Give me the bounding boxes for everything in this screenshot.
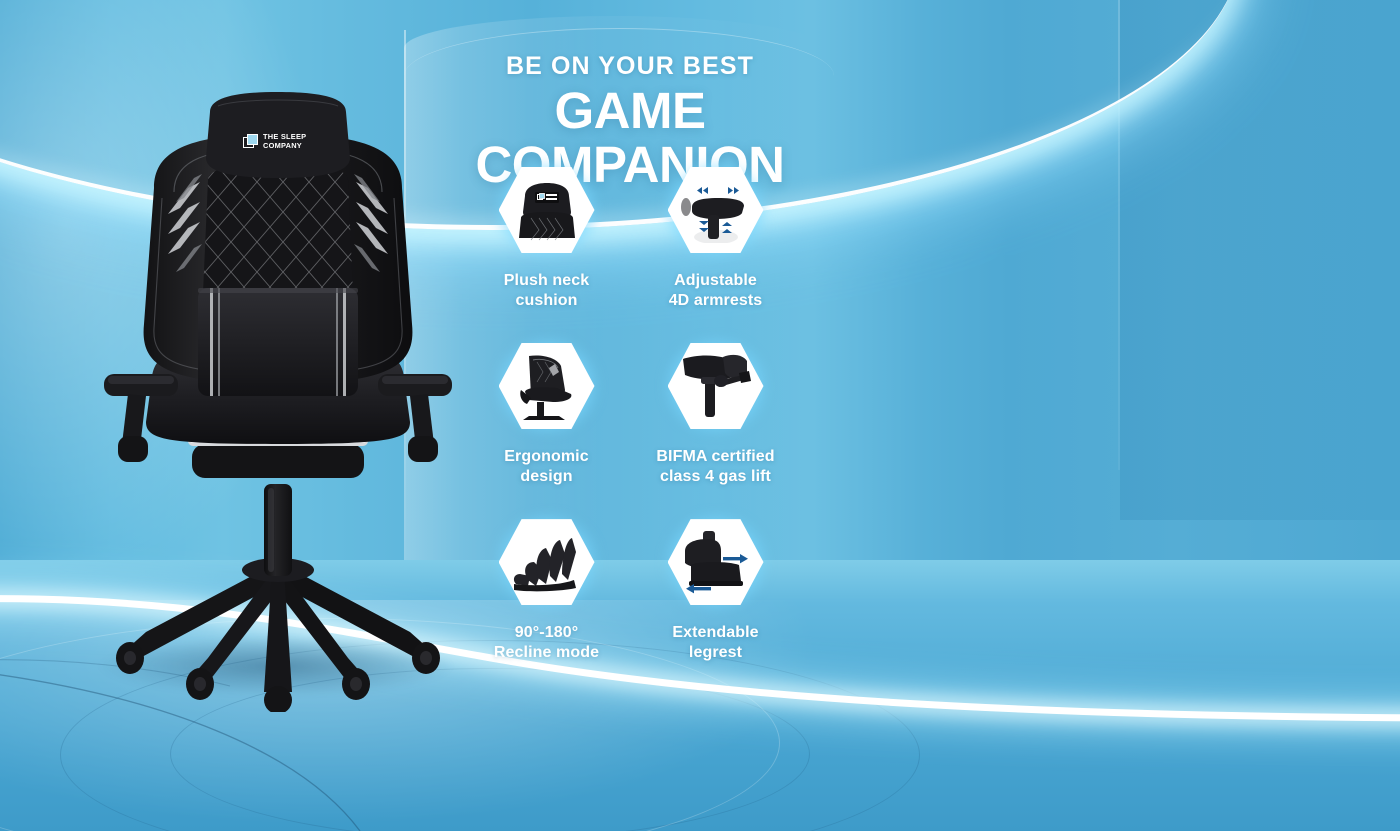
feature-badge [491,158,603,262]
feature-label: Plush neckcushion [504,271,589,310]
feature-badge [491,510,603,614]
feature-badge [491,334,603,438]
feature-label: Ergonomicdesign [504,447,588,486]
promo-banner: THE SLEEPCOMPANY BE ON YOUR BEST GAME CO… [0,0,1400,831]
feature-label: 90°-180°Recline mode [494,623,599,662]
overlapping-squares-logo-icon [243,134,258,149]
feature-extendable-legrest[interactable]: Extendablelegrest [635,510,796,662]
chair-base [116,558,440,712]
feature-plush-neck-cushion[interactable]: Plush neckcushion [466,158,627,310]
feature-grid: Plush neckcushion [466,158,796,662]
feature-adjustable-4d-armrests[interactable]: Adjustable4D armrests [635,158,796,310]
feature-label: Adjustable4D armrests [669,271,763,310]
brand-name: THE SLEEPCOMPANY [263,133,306,150]
headrest-brand-logo: THE SLEEPCOMPANY [243,133,306,150]
feature-label: BIFMA certifiedclass 4 gas lift [656,447,774,486]
feature-label: Extendablelegrest [672,623,758,662]
feature-badge [660,158,772,262]
feature-badge [660,510,772,614]
feature-ergonomic-design[interactable]: Ergonomicdesign [466,334,627,486]
lumbar-pillow [198,288,358,396]
feature-recline-mode[interactable]: 90°-180°Recline mode [466,510,627,662]
feature-badge [660,334,772,438]
feature-bifma-certified-gas-lift[interactable]: BIFMA certifiedclass 4 gas lift [635,334,796,486]
kicker-text: BE ON YOUR BEST [400,52,860,81]
